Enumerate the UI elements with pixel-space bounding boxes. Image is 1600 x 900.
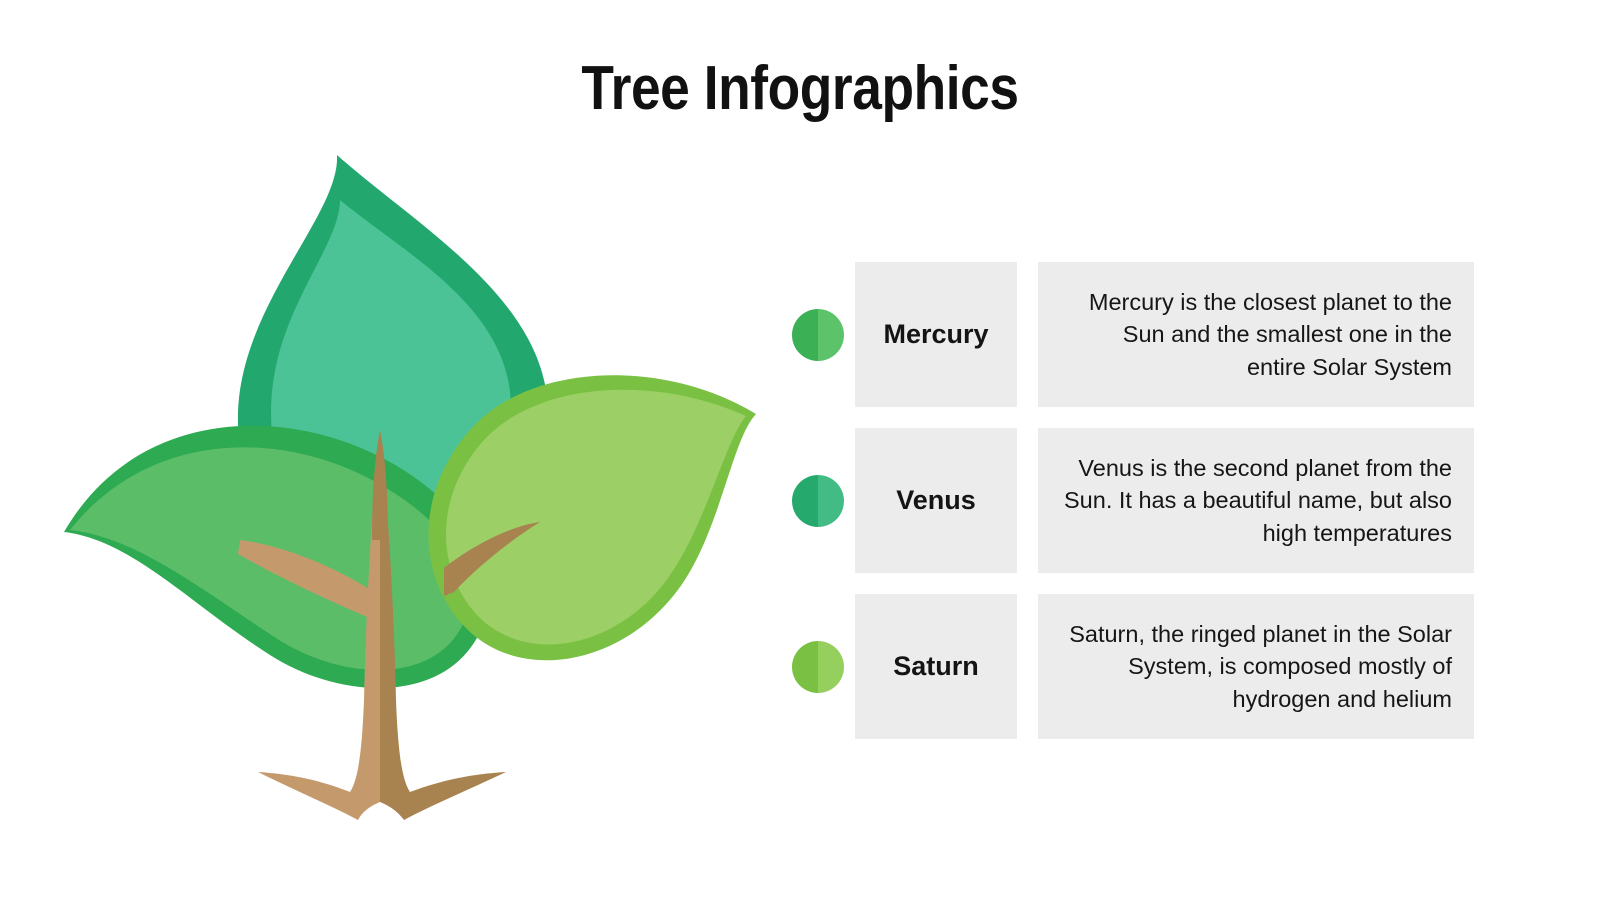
circle-bullet-icon [792, 309, 844, 361]
content-row-mercury[interactable]: Mercury Mercury is the closest planet to… [780, 262, 1510, 407]
bullet-wrap [780, 309, 855, 361]
row-label: Saturn [893, 651, 979, 682]
bullet-half-dark [792, 641, 818, 693]
row-description: Venus is the second planet from the Sun.… [1038, 452, 1474, 549]
tree-illustration [40, 140, 800, 840]
content-row-venus[interactable]: Venus Venus is the second planet from th… [780, 428, 1510, 573]
content-rows: Mercury Mercury is the closest planet to… [780, 262, 1510, 772]
row-description-box[interactable]: Venus is the second planet from the Sun.… [1038, 428, 1474, 573]
bullet-half-light [818, 475, 844, 527]
page-title: Tree Infographics [112, 55, 1488, 123]
circle-bullet-icon [792, 641, 844, 693]
row-label: Venus [896, 485, 976, 516]
bullet-half-dark [792, 475, 818, 527]
content-row-saturn[interactable]: Saturn Saturn, the ringed planet in the … [780, 594, 1510, 739]
row-description: Saturn, the ringed planet in the Solar S… [1038, 618, 1474, 715]
row-description-box[interactable]: Mercury is the closest planet to the Sun… [1038, 262, 1474, 407]
row-label-box[interactable]: Mercury [855, 262, 1017, 407]
row-description-box[interactable]: Saturn, the ringed planet in the Solar S… [1038, 594, 1474, 739]
bullet-wrap [780, 475, 855, 527]
circle-bullet-icon [792, 475, 844, 527]
row-label-box[interactable]: Saturn [855, 594, 1017, 739]
bullet-half-dark [792, 309, 818, 361]
row-label-box[interactable]: Venus [855, 428, 1017, 573]
bullet-half-light [818, 641, 844, 693]
bullet-wrap [780, 641, 855, 693]
bullet-half-light [818, 309, 844, 361]
row-description: Mercury is the closest planet to the Sun… [1038, 286, 1474, 383]
row-label: Mercury [883, 319, 988, 350]
